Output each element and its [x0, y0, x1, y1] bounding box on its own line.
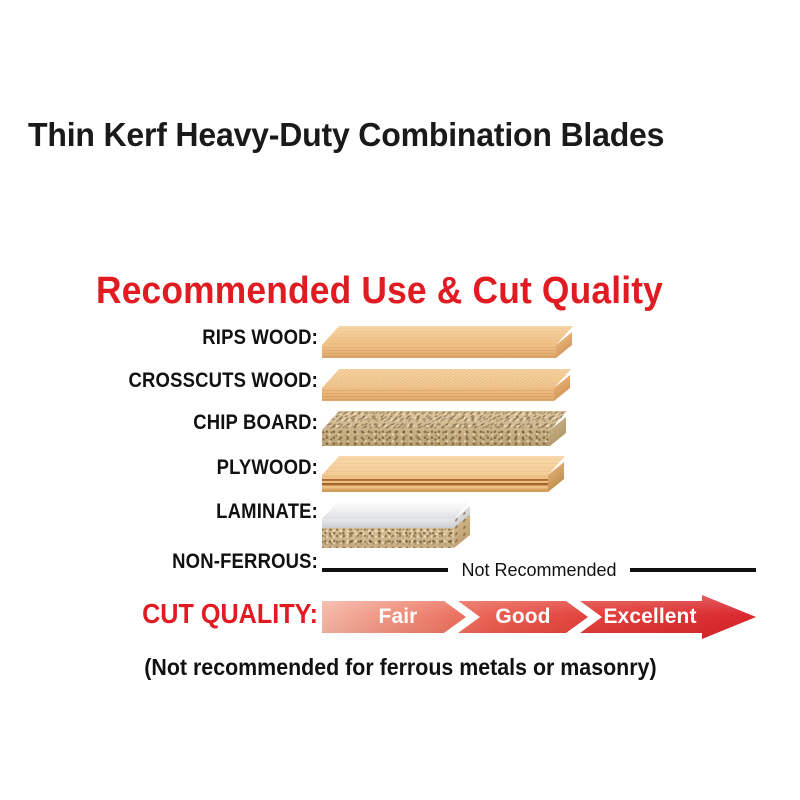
- plank-top-face: [322, 411, 567, 430]
- footnote: (Not recommended for ferrous metals or m…: [0, 654, 800, 681]
- plank-top-face-laminate: [322, 500, 471, 519]
- cut-quality-scale: Fair Good Excellent: [322, 595, 756, 639]
- plank-top-face: [322, 369, 571, 388]
- table-row: NON-FERROUS: Not Recommended: [0, 550, 800, 592]
- cut-quality-row: CUT QUALITY:: [0, 599, 800, 647]
- rule-left: [322, 568, 448, 572]
- plank-front-edge-laminate: [322, 519, 454, 528]
- table-row: LAMINATE:: [0, 500, 800, 542]
- plank-core-particleboard: [322, 528, 454, 548]
- row-label-cut-quality: CUT QUALITY:: [48, 599, 318, 629]
- row-label-non-ferrous: NON-FERROUS:: [54, 550, 318, 574]
- row-label-plywood: PLYWOOD:: [54, 456, 318, 480]
- plank-front-edge: [322, 388, 554, 401]
- footnote-text: (Not recommended for ferrous metals or m…: [144, 654, 656, 681]
- non-ferrous-status: Not Recommended: [322, 559, 756, 581]
- table-row: RIPS WOOD:: [0, 326, 800, 368]
- row-label-laminate: LAMINATE:: [54, 500, 318, 524]
- rule-right: [630, 568, 756, 572]
- plank-front-edge-plies: [322, 475, 548, 492]
- plank-front-edge: [322, 430, 550, 446]
- not-recommended-label: Not Recommended: [448, 560, 629, 581]
- plank-top-face: [322, 456, 565, 475]
- table-row: CROSSCUTS WOOD:: [0, 369, 800, 411]
- table-row: CHIP BOARD:: [0, 411, 800, 453]
- plank-front-edge: [322, 345, 556, 358]
- row-label-chip-board: CHIP BOARD:: [54, 411, 318, 435]
- row-label-crosscuts-wood: CROSSCUTS WOOD:: [54, 369, 318, 393]
- panel-headline: Recommended Use & Cut Quality: [96, 270, 663, 313]
- table-row: PLYWOOD:: [0, 456, 800, 498]
- recommended-use-panel: Recommended Use & Cut Quality RIPS WOOD:…: [0, 262, 800, 692]
- cut-quality-arrow-graphic: [322, 595, 756, 639]
- row-label-rips-wood: RIPS WOOD:: [54, 326, 318, 350]
- plank-top-face: [322, 326, 573, 345]
- page-title: Thin Kerf Heavy-Duty Combination Blades: [28, 116, 800, 154]
